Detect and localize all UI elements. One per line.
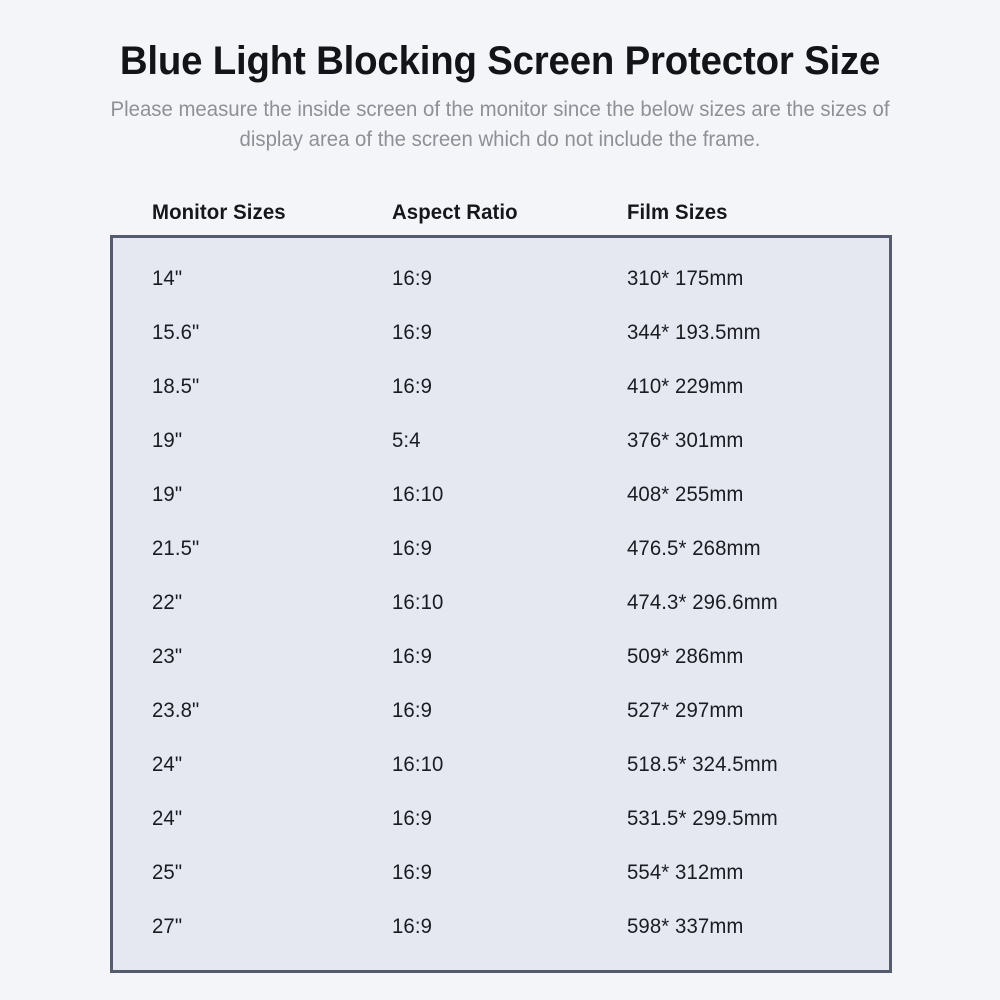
table-cell-film: 310* 175mm xyxy=(627,267,881,291)
table-cell-aspect: 16:10 xyxy=(392,591,620,615)
heading-block: Blue Light Blocking Screen Protector Siz… xyxy=(0,0,1000,155)
product-spec-page: Blue Light Blocking Screen Protector Siz… xyxy=(0,0,1000,1000)
table-cell-film: 554* 312mm xyxy=(627,861,881,885)
table-cell-film: 376* 301mm xyxy=(627,429,881,453)
table-row: 15.6"16:9344* 193.5mm xyxy=(113,306,889,360)
table-cell-monitor: 18.5" xyxy=(152,375,385,399)
table-row: 24"16:10518.5* 324.5mm xyxy=(113,738,889,792)
table-cell-monitor: 23" xyxy=(152,645,385,669)
table-cell-aspect: 16:9 xyxy=(392,699,620,723)
table-cell-aspect: 16:10 xyxy=(392,483,620,507)
table-cell-aspect: 16:9 xyxy=(392,645,620,669)
size-chart-table: Monitor Sizes Aspect Ratio Film Sizes 14… xyxy=(110,190,892,973)
page-title: Blue Light Blocking Screen Protector Siz… xyxy=(20,0,980,85)
table-cell-film: 408* 255mm xyxy=(627,483,881,507)
table-cell-aspect: 16:9 xyxy=(392,321,620,345)
table-row: 24"16:9531.5* 299.5mm xyxy=(113,792,889,846)
table-cell-film: 531.5* 299.5mm xyxy=(627,807,881,831)
table-row: 23.8"16:9527* 297mm xyxy=(113,684,889,738)
table-cell-monitor: 21.5" xyxy=(152,537,385,561)
table-row: 19"16:10408* 255mm xyxy=(113,468,889,522)
table-cell-monitor: 22" xyxy=(152,591,385,615)
table-cell-monitor: 14" xyxy=(152,267,385,291)
column-header-aspect-ratio: Aspect Ratio xyxy=(392,201,620,225)
table-cell-monitor: 23.8" xyxy=(152,699,385,723)
table-cell-film: 476.5* 268mm xyxy=(627,537,881,561)
table-cell-monitor: 24" xyxy=(152,753,385,777)
table-body: 14"16:9310* 175mm15.6"16:9344* 193.5mm18… xyxy=(110,235,892,973)
table-cell-monitor: 19" xyxy=(152,483,385,507)
table-cell-film: 344* 193.5mm xyxy=(627,321,881,345)
table-row: 14"16:9310* 175mm xyxy=(113,252,889,306)
table-row: 25"16:9554* 312mm xyxy=(113,846,889,900)
table-cell-film: 410* 229mm xyxy=(627,375,881,399)
table-cell-film: 509* 286mm xyxy=(627,645,881,669)
table-cell-monitor: 27" xyxy=(152,915,385,939)
table-cell-aspect: 16:9 xyxy=(392,807,620,831)
table-cell-aspect: 16:9 xyxy=(392,861,620,885)
table-row: 19"5:4376* 301mm xyxy=(113,414,889,468)
column-header-film-sizes: Film Sizes xyxy=(627,201,884,225)
table-cell-monitor: 19" xyxy=(152,429,385,453)
table-cell-aspect: 16:9 xyxy=(392,537,620,561)
table-row: 21.5"16:9476.5* 268mm xyxy=(113,522,889,576)
table-cell-film: 518.5* 324.5mm xyxy=(627,753,881,777)
column-header-monitor-sizes: Monitor Sizes xyxy=(152,201,385,225)
table-cell-monitor: 15.6" xyxy=(152,321,385,345)
table-cell-film: 598* 337mm xyxy=(627,915,881,939)
table-cell-film: 527* 297mm xyxy=(627,699,881,723)
table-cell-aspect: 5:4 xyxy=(392,429,620,453)
table-header-row: Monitor Sizes Aspect Ratio Film Sizes xyxy=(110,190,892,235)
table-cell-aspect: 16:9 xyxy=(392,375,620,399)
table-cell-aspect: 16:10 xyxy=(392,753,620,777)
table-row: 27"16:9598* 337mm xyxy=(113,900,889,954)
table-row: 23"16:9509* 286mm xyxy=(113,630,889,684)
table-cell-aspect: 16:9 xyxy=(392,915,620,939)
table-cell-monitor: 24" xyxy=(152,807,385,831)
table-row: 18.5"16:9410* 229mm xyxy=(113,360,889,414)
page-subtitle: Please measure the inside screen of the … xyxy=(15,85,985,155)
table-row: 22"16:10474.3* 296.6mm xyxy=(113,576,889,630)
table-cell-monitor: 25" xyxy=(152,861,385,885)
table-cell-aspect: 16:9 xyxy=(392,267,620,291)
table-cell-film: 474.3* 296.6mm xyxy=(627,591,881,615)
